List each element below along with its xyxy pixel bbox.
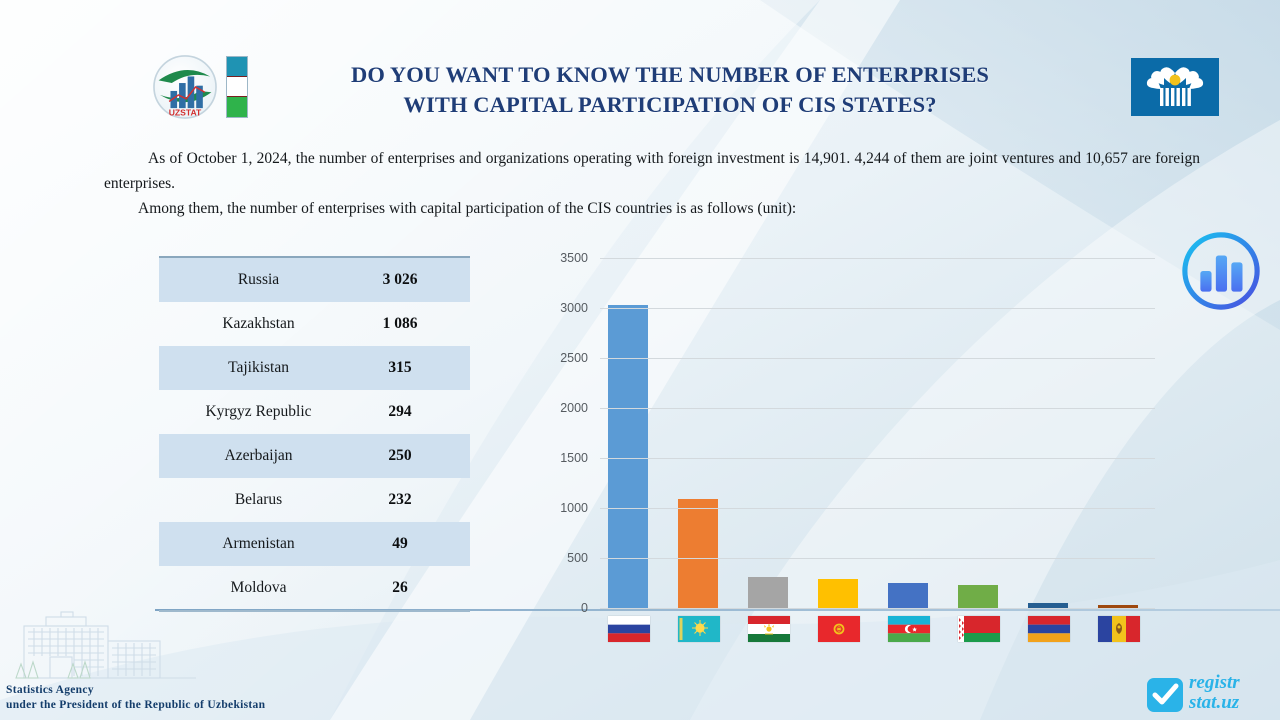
table-cell-value: 232 [358, 491, 470, 509]
chart-y-tick-label: 1000 [540, 502, 588, 514]
table-cell-country: Kyrgyz Republic [159, 403, 358, 421]
kazakhstan-flag-icon [678, 616, 720, 642]
table-cell-country: Belarus [159, 491, 358, 509]
table-row: Armenistan49 [159, 522, 470, 566]
uzstat-logo: UZSTAT [152, 54, 218, 120]
chart-bar [748, 577, 788, 609]
table-cell-country: Kazakhstan [159, 315, 358, 333]
intro-paragraph-1: As of October 1, 2024, the number of ent… [104, 146, 1200, 196]
table-cell-value: 1 086 [358, 315, 470, 333]
russia-flag-icon [608, 616, 650, 642]
header: UZSTAT DO YOU WANT TO KNOW THE NUMBER OF… [0, 0, 1280, 140]
footer-line-1: Statistics Agency [6, 683, 265, 698]
table-cell-value: 294 [358, 403, 470, 421]
footer-line-2: under the President of the Republic of U… [6, 698, 265, 713]
intro-paragraph-2: Among them, the number of enterprises wi… [104, 196, 1200, 221]
table-row: Tajikistan315 [159, 346, 470, 390]
chart-y-tick-label: 3500 [540, 252, 588, 264]
table-cell-country: Moldova [159, 579, 358, 597]
registr-line-2: stat.uz [1189, 693, 1240, 713]
table-cell-country: Russia [159, 271, 358, 289]
chart-y-tick-label: 500 [540, 552, 588, 564]
kyrgyzstan-flag-icon [818, 616, 860, 642]
table-cell-value: 250 [358, 447, 470, 465]
chart-y-tick-label: 1500 [540, 452, 588, 464]
registrstat-logo[interactable]: registr stat.uz [1145, 674, 1277, 716]
chart-bar [678, 499, 718, 608]
intro-text: As of October 1, 2024, the number of ent… [104, 146, 1200, 221]
page-title-line2: WITH CAPITAL PARTICIPATION OF CIS STATES… [270, 90, 1070, 120]
chart-gridline [600, 408, 1155, 409]
chart-gridline [600, 608, 1155, 609]
table-cell-country: Azerbaijan [159, 447, 358, 465]
chart-bar [608, 305, 648, 608]
chart-bars [600, 258, 1160, 608]
cis-commonwealth-emblem-icon [1131, 58, 1219, 116]
tajikistan-flag-icon [748, 616, 790, 642]
table-cell-value: 49 [358, 535, 470, 553]
enterprises-bar-chart: 3500300025002000150010005000 [540, 250, 1160, 650]
bar-chart-circle-icon [1178, 228, 1264, 314]
table-cell-value: 315 [358, 359, 470, 377]
table-row: Azerbaijan250 [159, 434, 470, 478]
statistics-agency-building-icon [6, 608, 206, 686]
table-row: Belarus232 [159, 478, 470, 522]
page-title: DO YOU WANT TO KNOW THE NUMBER OF ENTERP… [270, 60, 1070, 120]
chart-y-tick-label: 2000 [540, 402, 588, 414]
registr-line-1: registr [1189, 673, 1240, 693]
armenia-flag-icon [1028, 616, 1070, 642]
chart-gridline [600, 508, 1155, 509]
chart-y-tick-label: 0 [540, 602, 588, 614]
chart-gridline [600, 308, 1155, 309]
chart-bar [958, 585, 998, 608]
chart-gridline [600, 358, 1155, 359]
table-row: Kyrgyz Republic294 [159, 390, 470, 434]
check-badge-icon [1145, 675, 1185, 715]
table-cell-country: Armenistan [159, 535, 358, 553]
footer-organisation: Statistics Agency under the President of… [6, 683, 265, 713]
chart-gridline [600, 558, 1155, 559]
table-cell-value: 3 026 [358, 271, 470, 289]
page-title-line1: DO YOU WANT TO KNOW THE NUMBER OF ENTERP… [351, 62, 989, 87]
chart-y-tick-label: 3000 [540, 302, 588, 314]
chart-y-tick-label: 2500 [540, 352, 588, 364]
country-enterprise-table: Russia3 026Kazakhstan1 086Tajikistan315K… [159, 256, 470, 612]
chart-bar [818, 579, 858, 608]
chart-bar [888, 583, 928, 608]
table-cell-country: Tajikistan [159, 359, 358, 377]
belarus-flag-icon [958, 616, 1000, 642]
moldova-flag-icon [1098, 616, 1140, 642]
table-row: Russia3 026 [159, 258, 470, 302]
chart-gridline [600, 458, 1155, 459]
table-row: Moldova26 [159, 566, 470, 610]
chart-gridline [600, 258, 1155, 259]
azerbaijan-flag-icon [888, 616, 930, 642]
table-row: Kazakhstan1 086 [159, 302, 470, 346]
table-cell-value: 26 [358, 579, 470, 597]
uzbekistan-flag-vertical-bar-icon [226, 56, 248, 118]
uzstat-logo-text: UZSTAT [169, 107, 202, 117]
